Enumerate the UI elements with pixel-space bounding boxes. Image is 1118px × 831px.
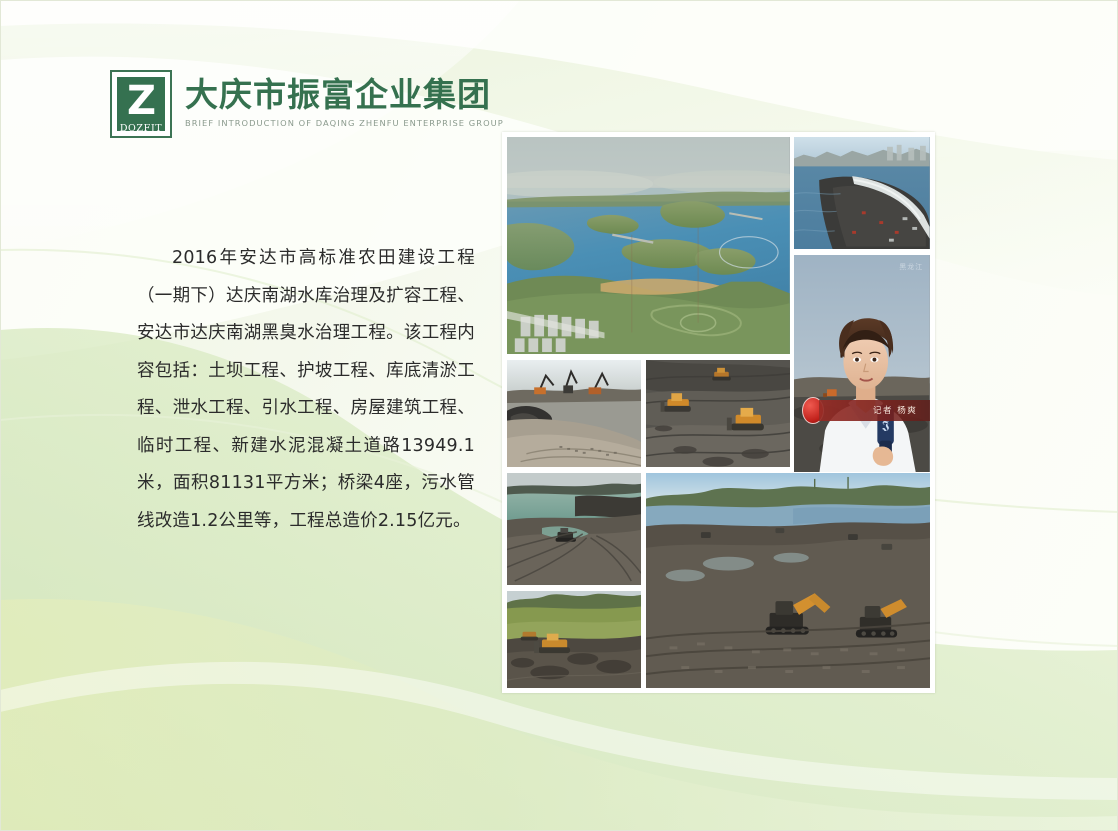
photo-panorama-dredging <box>645 472 931 689</box>
site3-artwork <box>507 473 641 585</box>
reporter-lower-third: 记者 杨爽 <box>802 397 930 424</box>
logo-abbreviation: DQZFJT <box>120 124 162 134</box>
site4-artwork <box>507 591 641 688</box>
photo-collage-panel: 𝕵 黑龙江 记者 杨爽 <box>502 132 935 693</box>
logo-mark-inner: Z DQZFJT <box>117 77 165 131</box>
photo-site-bulldozers <box>645 359 791 468</box>
slide-canvas: Z DQZFJT 大庆市振富企业集团 BRIEF INTRODUCTION OF… <box>0 0 1118 831</box>
render-artwork <box>507 137 790 354</box>
company-name-en: BRIEF INTRODUCTION OF DAQING ZHENFU ENTE… <box>185 118 504 128</box>
aerial-artwork <box>794 137 930 249</box>
reporter-name-label: 记者 杨爽 <box>873 404 917 416</box>
reporter-artwork: 𝕵 <box>794 255 930 474</box>
reporter-name-bar: 记者 杨爽 <box>819 400 930 420</box>
logo-mark-icon: Z DQZFJT <box>110 70 172 138</box>
logo-wordmark: 大庆市振富企业集团 BRIEF INTRODUCTION OF DAQING Z… <box>185 70 504 128</box>
photo-aerial-construction <box>793 136 931 250</box>
photo-tv-reporter: 𝕵 黑龙江 记者 杨爽 <box>793 254 931 475</box>
company-logo: Z DQZFJT 大庆市振富企业集团 BRIEF INTRODUCTION OF… <box>110 70 504 138</box>
station-watermark: 黑龙江 <box>899 262 923 272</box>
panorama-artwork <box>646 473 930 688</box>
site2-artwork <box>646 360 790 467</box>
photo-collage-grid: 𝕵 黑龙江 记者 杨爽 <box>506 136 931 689</box>
site1-artwork <box>507 360 641 467</box>
photo-render-masterplan <box>506 136 791 355</box>
photo-site-bank-dozer <box>506 590 642 689</box>
logo-letter-z: Z <box>127 79 155 123</box>
photo-site-excavators <box>506 359 642 468</box>
project-description-paragraph: 2016年安达市高标准农田建设工程（一期下）达庆南湖水库治理及扩容工程、安达市达… <box>137 240 475 540</box>
photo-site-water-channel <box>506 472 642 586</box>
company-name-cn: 大庆市振富企业集团 <box>185 76 504 114</box>
